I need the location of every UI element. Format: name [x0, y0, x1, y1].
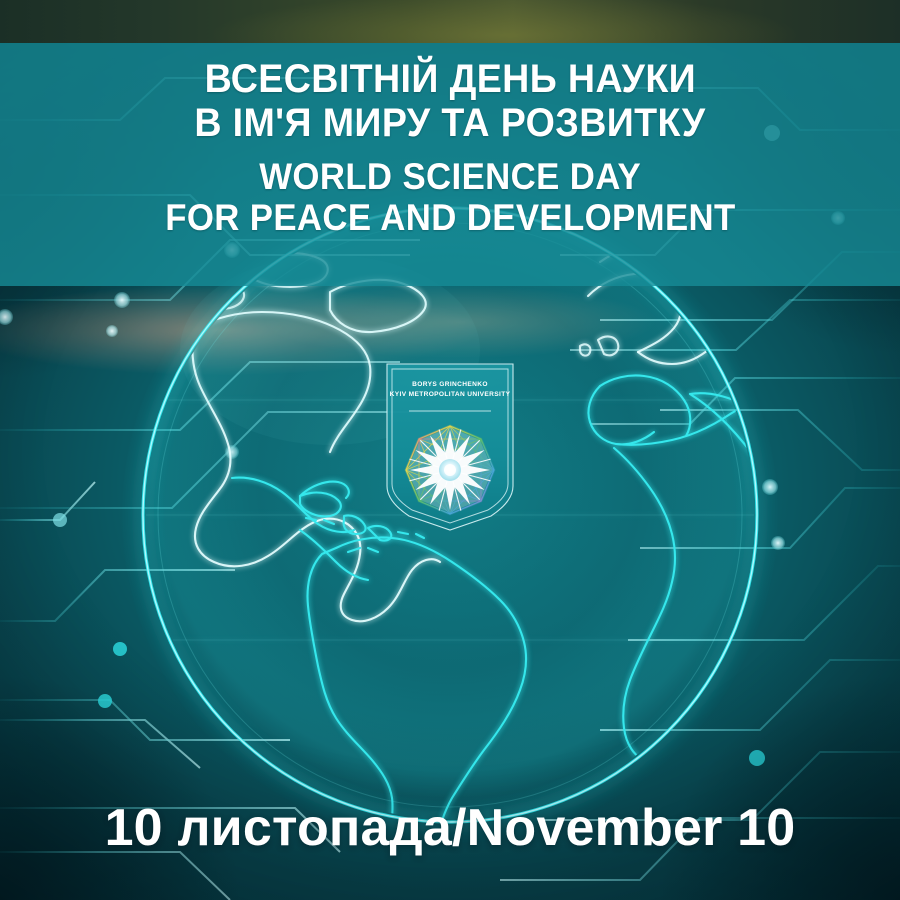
university-name: BORYS GRINCHENKO KYIV METROPOLITAN UNIVE… — [383, 380, 517, 400]
radiant-rosette-star-icon — [400, 420, 500, 520]
headline-english-line1: WORLD SCIENCE DAY — [259, 158, 641, 196]
headline-english-line2: FOR PEACE AND DEVELOPMENT — [165, 199, 735, 237]
title-block: ВСЕСВІТНІЙ ДЕНЬ НАУКИ В ІМ'Я МИРУ ТА РОЗ… — [0, 43, 900, 286]
poster-canvas: ВСЕСВІТНІЙ ДЕНЬ НАУКИ В ІМ'Я МИРУ ТА РОЗ… — [0, 0, 900, 900]
university-name-line2: KYIV METROPOLITAN UNIVERSITY — [383, 390, 517, 400]
headline-ukrainian-line2: В ІМ'Я МИРУ ТА РОЗВИТКУ — [194, 103, 705, 145]
event-date: 10 листопада/November 10 — [0, 798, 900, 858]
headline-ukrainian-line1: ВСЕСВІТНІЙ ДЕНЬ НАУКИ — [204, 59, 695, 101]
university-name-line1: BORYS GRINCHENKO — [383, 380, 517, 390]
university-logo: BORYS GRINCHENKO KYIV METROPOLITAN UNIVE… — [383, 358, 517, 533]
dark-green-band-icon — [0, 0, 900, 43]
